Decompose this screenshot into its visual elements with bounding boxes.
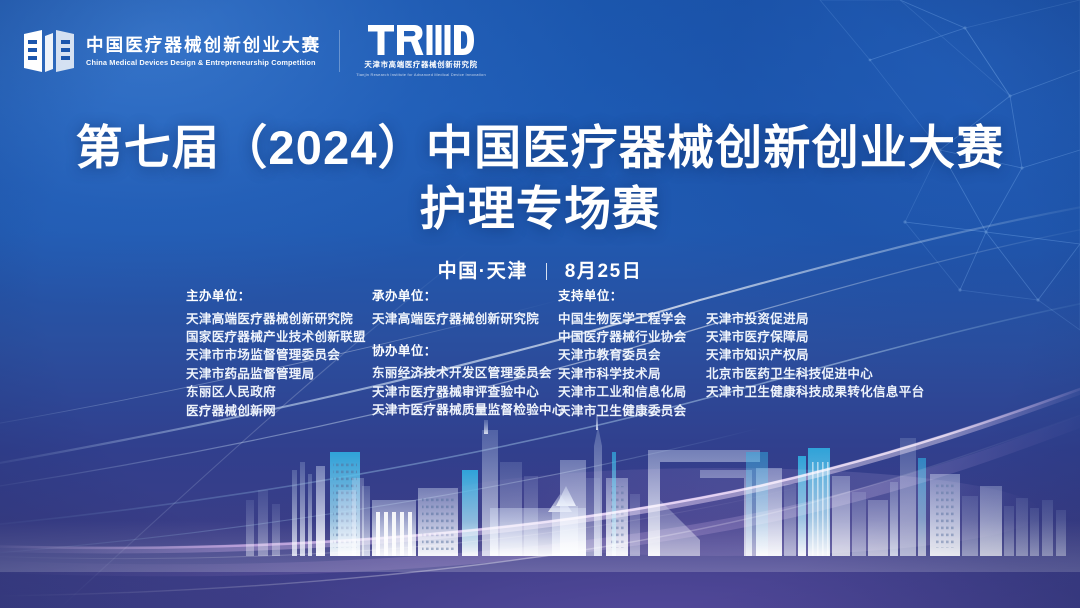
group-undertaker: 承办单位： 天津高端医疗器械创新研究院 (372, 290, 558, 328)
subtitle-date: 8月25日 (565, 261, 643, 282)
group-supporter-item: 天津市知识产权局 (706, 346, 916, 364)
group-supporter-item: 天津市卫生健康科技成果转化信息平台 (706, 383, 916, 401)
title-line-1: 第七届（2024）中国医疗器械创新创业大赛 (0, 117, 1080, 178)
logo-divider (339, 30, 340, 72)
partner-logo-cn-text: 天津市高端医疗器械创新研究院 (364, 59, 477, 70)
group-supporter-item: 中国生物医学工程学会 (558, 310, 706, 328)
organizers-column-host: 主办单位： 天津高端医疗器械创新研究院 国家医疗器械产业技术创新联盟 天津市市场… (186, 290, 372, 420)
group-host-item: 天津市市场监督管理委员会 (186, 346, 372, 364)
group-supporter-item: 天津市医疗保障局 (706, 328, 916, 346)
group-supporter-item: 中国医疗器械行业协会 (558, 328, 706, 346)
group-supporter-item: 天津市卫生健康委员会 (558, 402, 706, 420)
partner-logo: 天津市高端医疗器械创新研究院 Tianjin Research Institut… (356, 25, 486, 77)
subtitle-location: 中国·天津 (438, 261, 528, 282)
group-supporter-item: 北京市医药卫生科技促进中心 (706, 365, 916, 383)
group-coorganizer-item: 东丽经济技术开发区管理委员会 (372, 364, 558, 382)
group-supporter-item: 天津市投资促进局 (706, 310, 916, 328)
group-host-title: 主办单位： (186, 290, 372, 303)
group-host-item: 国家医疗器械产业技术创新联盟 (186, 328, 372, 346)
title-line-2: 护理专场赛 (0, 178, 1080, 239)
group-host-item: 医疗器械创新网 (186, 402, 372, 420)
group-host-item: 天津高端医疗器械创新研究院 (186, 310, 372, 328)
group-undertaker-item: 天津高端医疗器械创新研究院 (372, 310, 558, 328)
group-coorganizer-title: 协办单位： (372, 345, 558, 358)
group-host-item: 东丽区人民政府 (186, 383, 372, 401)
subtitle-separator (546, 263, 547, 280)
group-undertaker-title: 承办单位： (372, 290, 558, 303)
page-title: 第七届（2024）中国医疗器械创新创业大赛 护理专场赛 (0, 117, 1080, 239)
poster-canvas: 中国医疗器械创新创业大赛 China Medical Devices Desig… (0, 0, 1080, 608)
group-supporter-item: 天津市教育委员会 (558, 346, 706, 364)
main-logo-cn-text: 中国医疗器械创新创业大赛 (86, 35, 321, 55)
organizers-column-undertaker: 承办单位： 天津高端医疗器械创新研究院 协办单位： 东丽经济技术开发区管理委员会… (372, 290, 558, 420)
subtitle-location-date: 中国·天津 8月25日 (0, 256, 1080, 283)
triid-wordmark-icon (368, 25, 474, 55)
main-logo-en-text: China Medical Devices Design & Entrepren… (86, 58, 321, 67)
supporter-items-left: 中国生物医学工程学会 中国医疗器械行业协会 天津市教育委员会 天津市科学技术局 … (558, 310, 706, 420)
group-supporter-item: 天津市工业和信息化局 (558, 383, 706, 401)
group-supporter-title: 支持单位： (558, 290, 916, 303)
organizers-column-supporter: 支持单位： 中国生物医学工程学会 中国医疗器械行业协会 天津市教育委员会 天津市… (558, 290, 916, 420)
group-coorganizer: 协办单位： 东丽经济技术开发区管理委员会 天津市医疗器械审评查验中心 天津市医疗… (372, 345, 558, 420)
group-supporter-item: 天津市科学技术局 (558, 365, 706, 383)
group-coorganizer-item: 天津市医疗器械审评查验中心 (372, 383, 558, 401)
partner-logo-en-text: Tianjin Research Institute for Advanced … (356, 72, 486, 77)
group-coorganizer-item: 天津市医疗器械质量监督检验中心 (372, 401, 558, 419)
group-supporter: 支持单位： 中国生物医学工程学会 中国医疗器械行业协会 天津市教育委员会 天津市… (558, 290, 916, 420)
supporter-items-right: 天津市投资促进局 天津市医疗保障局 天津市知识产权局 北京市医药卫生科技促进中心… (706, 310, 916, 420)
open-book-door-logo-icon (22, 28, 76, 74)
group-host: 主办单位： 天津高端医疗器械创新研究院 国家医疗器械产业技术创新联盟 天津市市场… (186, 290, 372, 420)
logo-bar: 中国医疗器械创新创业大赛 China Medical Devices Desig… (22, 22, 722, 80)
supporter-items: 中国生物医学工程学会 中国医疗器械行业协会 天津市教育委员会 天津市科学技术局 … (558, 310, 916, 420)
group-host-item: 天津市药品监督管理局 (186, 365, 372, 383)
main-logo-wordmark: 中国医疗器械创新创业大赛 China Medical Devices Desig… (86, 35, 321, 67)
organizers-section: 主办单位： 天津高端医疗器械创新研究院 国家医疗器械产业技术创新联盟 天津市市场… (186, 290, 916, 420)
